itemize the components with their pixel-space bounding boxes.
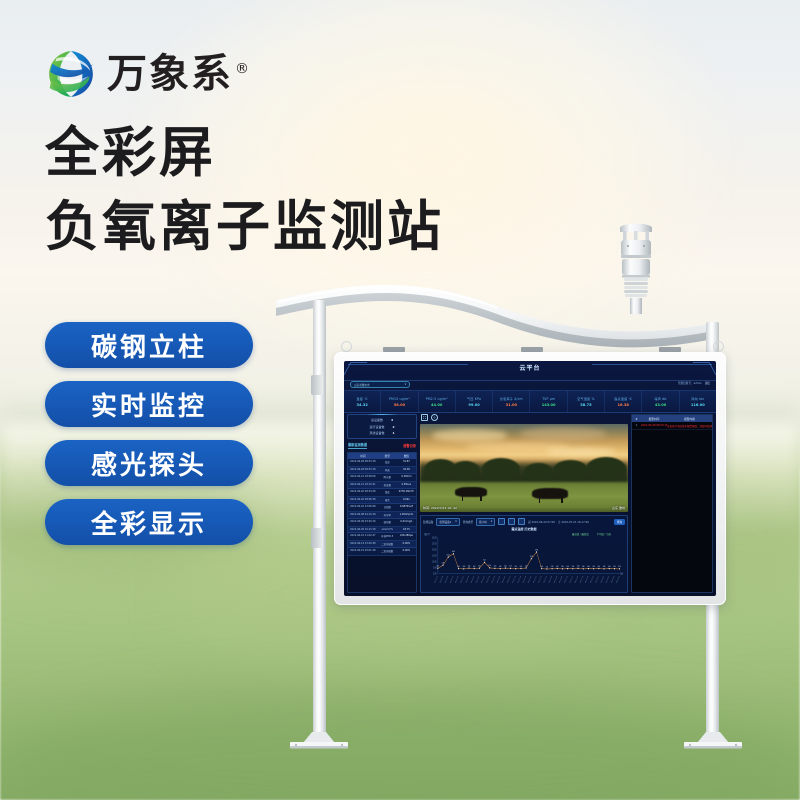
metric-item: 负氧离子 4/cm31.00 [493,391,530,412]
table-cell: 0.4mmg/L [397,519,416,526]
chevron-down-icon: ▾ [455,520,456,523]
metric-label: 露点温度 ℃ [614,396,632,401]
chart-plot-area: 最高值 / 最低值 平均值 / 当前 30.0025.0020.0015.001… [423,531,625,590]
table-cell: 2022-06-15 03:01:28 [348,548,378,555]
screenshot-canvas: 万象系® 全彩屏 负氧离子监测站 碳钢立柱 实时监控 感光探头 全彩显示 [0,0,800,800]
table-cell: 2022-06-01 11:02:47 [348,533,378,540]
chart-type-label: 查询类型 [463,520,473,524]
table-cell: 2022-06-09 03:20:16 [348,519,378,526]
camera-toolbar [420,414,628,421]
dashboard-body: 总设备数3运行设备数2离线设备数1 最新监测数据 报警记录 时间类型数值 202… [344,411,716,596]
x-tick-label: 06-20 21 [471,575,475,583]
table-cell: 2022-06-05 10:13:18 [348,527,378,533]
center-panel: 时间: 2022/7/21 16: 42 山东 潍坊 监测设备 监测设备1 ▾ … [420,414,628,593]
y-tick-label: 25.00 [432,543,437,545]
table-row[interactable]: 2022-06-15 03:01:28二氧化碳数0.00% [348,548,416,556]
tree [553,460,588,480]
table-cell: 0.38mm [397,474,416,481]
metric-item: TSP μm143.00 [530,391,567,412]
x-tick-label: 06-21 06 [491,575,495,583]
x-tick-label: 06-20 13 [450,575,454,583]
x-tick-label: 06-22 12 [569,575,573,583]
cow-leg [561,498,562,503]
table-cell: 2022-06-13 13:20:38 [348,541,378,548]
chart-point-label: 4.50 [525,565,527,567]
feature-badge-fullcolor[interactable]: 全彩显示 [45,499,253,545]
chart-point-label: 3.90 [592,565,594,567]
site-select-value: 山东省潍坊市 [354,383,370,387]
device-stat-label: 运行设备数 [369,425,384,429]
device-stat-row: 总设备数3 [352,418,412,422]
metric-label: TSP μm [542,397,555,401]
ultrasonic-weather-sensor-icon [612,222,660,314]
x-tick-label: 06-21 02 [481,575,485,583]
chart-legend: 最高值 / 最低值 平均值 / 当前 [572,532,611,536]
metric-label: 气压 KPa [467,396,481,401]
x-tick-label: 06-21 16 [517,575,521,583]
table-cell: 2022-06-28 08:53:18 [348,467,378,474]
table-cell: 日照数 [378,504,397,511]
records-table: 时间类型数值 2022-06-28 08:53:18温度31.872022-06… [347,452,417,594]
chart-point-label: 17.80 [535,549,538,551]
chart-point-label: 3.80 [618,566,620,568]
records-column-header: 数值 [397,453,416,460]
chart-point-label: 4.60 [489,565,491,567]
x-tick-label: 06-21 12 [507,575,511,583]
chart-point-label: 3.80 [582,566,584,568]
table-cell: 0.85Lux [397,482,416,489]
tree [451,461,480,479]
table-row[interactable]: 2022-06-21 18:10:31蒸发量0.85Lux [348,482,416,490]
chart-point-label: 4.20 [577,565,579,567]
chart-point-label: 4.30 [478,565,480,567]
alarm-col-time: 报警时间 [641,415,667,422]
table-cell: 18.75 [397,527,416,533]
metric-item: 空气湿度 %58.75 [568,391,605,412]
camera-location: 山东 潍坊 [612,506,625,510]
x-tick-label: 06-21 08 [497,575,501,583]
device-stats-box: 总设备数3运行设备数2离线设备数1 [347,414,417,439]
chart-device-label: 监测设备 [423,520,433,524]
feature-badge-steel-post[interactable]: 碳钢立柱 [45,322,253,368]
x-tick-label: 06-22 20 [590,575,594,583]
alarm-records-link[interactable]: 报警记录 [403,443,416,448]
table-cell: 噪音 [378,497,397,504]
cow-leg [462,496,463,501]
x-tick-label: 06-22 10 [564,575,568,583]
chart-device-value: 监测设备1 [439,520,451,524]
tree [482,458,519,480]
alarm-table-header: # 报警时间 报警内容 [632,415,712,422]
user-area: 管理员账号：admin 退出 [678,381,710,385]
chart-point-label: 4.00 [457,565,459,567]
metric-label: 空气湿度 % [577,396,595,401]
table-row[interactable]: 2022-06-28 08:53:18温度31.87 [348,459,416,467]
display-enclosure: 云平台 山东省潍坊市 ▾ 管理员账号：admin 退出 温度 ℃34.32PM1… [334,352,726,605]
chart-point-label: 4.00 [587,565,589,567]
table-cell: 2022-06-20 08:34:28 [348,489,378,496]
chart-controls: 监测设备 监测设备1 ▾ 查询类型 按小时 ▾ [423,518,625,526]
chart-point-label: 3.90 [572,565,574,567]
frame-hook-left [341,341,352,352]
metric-value: 43.00 [655,403,666,407]
chart-point-label: 4.20 [494,565,496,567]
chart-point-label: 4.00 [608,565,610,567]
x-tick-label: 06-21 18 [523,575,527,583]
table-cell: 2022-06-20 08:56:38 [348,497,378,504]
chart-point-label: 4.40 [504,565,506,567]
table-row[interactable]: 2022-06-28 08:53:18风速32.38 [348,467,416,475]
chart-point-label: 12.20 [530,555,533,557]
metric-value: 58.00 [394,403,405,407]
chart-device-select[interactable]: 监测设备1 ▾ [436,518,459,526]
frame-bracket [311,528,323,548]
carbon-steel-post-left [313,300,326,740]
records-column-header: 类型 [378,453,397,460]
table-cell: 0.00% [397,548,416,555]
chart-point-label: 9.20 [483,559,485,561]
chart-query-button[interactable]: 查询 [614,519,625,525]
metric-label: PM10 ug/m³ [389,397,410,401]
metrics-bar: 温度 ℃34.32PM10 ug/m³58.00PM2.5 ug/m³44.00… [344,390,716,413]
metric-item: PM10 ug/m³58.00 [381,391,418,412]
x-tick-label: 06-22 08 [559,575,563,583]
x-tick-label: 06-21 04 [486,575,490,583]
table-cell: 风速 [378,467,397,474]
frame-hook-right [713,341,724,352]
table-cell: 0.0879Uv/f [397,504,416,511]
dashboard-title: 云平台 [344,363,716,372]
x-tick-label: 06-23 00 [600,575,604,583]
table-cell: 2022-06-21 18:10:31 [348,482,378,489]
y-tick-label: 15.00 [432,555,437,557]
y-tick-label: 10.00 [432,561,437,563]
chart-point-label: 4.10 [520,565,522,567]
x-tick-label: 06-22 04 [549,575,553,583]
chart-point-label: 4.40 [468,565,470,567]
table-cell: 106.28Kpa [397,533,416,540]
x-tick-label: 06-23 06 [616,575,620,583]
metric-value: 116.00 [691,403,705,407]
x-tick-label: 06-20 17 [460,575,464,583]
alarm-cell: 负氧离子浓度低于报警阈值，请及时处理 [667,422,712,429]
cow-leg [539,498,540,503]
table-cell: 2022-06-08 04:10:18 [348,512,378,519]
table-cell: 降水量 [378,474,397,481]
metric-value: 58.75 [580,403,591,407]
table-cell: solarUV% [378,527,397,533]
table-cell: 蒸发量 [378,482,397,489]
camera-live-view[interactable]: 时间: 2022/7/21 16: 42 山东 潍坊 [420,424,628,512]
x-tick-label: 06-20 19 [465,575,469,583]
x-tick-label: 06-20 07 [434,575,438,583]
table-cell: 温度 [378,459,397,466]
table-cell: 湿度 [378,489,397,496]
chart-date-from[interactable]: 起 2022-06-20 07:00 [528,520,555,524]
x-tick-label: 06-21 22 [533,575,537,583]
table-row[interactable]: 2022-06-20 08:56:38噪音0.0Kn [348,497,416,505]
chart-point-label: 3.70 [546,566,548,568]
feature-badge-list: 碳钢立柱 实时监控 感光探头 全彩显示 [45,322,253,545]
table-cell: 环境PM2.5 [378,533,397,540]
device-stat-value: 3 [391,418,393,422]
metric-item: 露点温度 ℃16.38 [605,391,642,412]
dashboard-screen: 云平台 山东省潍坊市 ▾ 管理员账号：admin 退出 温度 ℃34.32PM1… [344,361,716,596]
metric-item: PM2.5 ug/m³44.00 [419,391,456,412]
table-cell: 2022-06-01 13:08:28 [348,504,378,511]
metric-item: 噪声 db43.00 [642,391,679,412]
anchor-base-plate-right [682,732,744,749]
records-title: 最新监测数据 [348,442,367,449]
history-chart-panel: 监测设备 监测设备1 ▾ 查询类型 按小时 ▾ [420,515,628,593]
table-cell: 0730.18m7h [397,489,416,496]
table-row[interactable]: 2022-06-20 08:34:28湿度0730.18m7h [348,489,416,497]
device-stat-row: 运行设备数2 [352,425,412,429]
table-cell: 0.0Kn [397,497,416,504]
chart-point-label: 4.20 [509,565,511,567]
chart-point-label: 4.20 [437,565,439,567]
user-account-label: 管理员账号：admin [678,381,702,385]
alarm-col-content: 报警内容 [667,415,712,422]
x-tick-label: 06-22 06 [554,575,558,583]
chart-point-label: 4.10 [598,565,600,567]
metric-label: 风向 ion [691,396,704,401]
table-cell: 32.38 [397,467,416,474]
alarm-row[interactable]: 12022-06-28 08:53:18负氧离子浓度低于报警阈值，请及时处理 [632,422,712,430]
x-tick-label: 06-22 16 [580,575,584,583]
table-row[interactable]: 2022-06-01 11:02:47环境PM2.5106.28Kpa [348,533,416,541]
table-cell: 31.87 [397,459,416,466]
chart-point-label: 4.10 [556,565,558,567]
cloud [520,427,607,441]
feature-badge-realtime[interactable]: 实时监控 [45,381,253,427]
cloud [432,429,507,441]
chart-point-label: 4.00 [566,565,568,567]
alarm-cell: 1 [632,422,641,429]
chart-point-label: 3.80 [561,566,563,568]
chart-point-label: 13.60 [447,554,450,556]
alarm-cell: 2022-06-28 08:53:18 [641,422,667,429]
x-tick-label: 06-21 20 [528,575,532,583]
chevron-down-icon: ▾ [405,383,406,386]
x-tick-label: 06-20 09 [439,575,443,583]
dashboard-header: 云平台 [344,361,716,381]
table-row[interactable]: 2022-06-01 13:08:28日照数0.0879Uv/f [348,504,416,512]
table-row[interactable]: 2022-06-21 18:48:08降水量0.38mm [348,474,416,482]
table-row[interactable]: 2022-06-13 13:20:38二氧化碳数0.00% [348,541,416,549]
brand-name: 万象系® [107,54,251,94]
legend-entry: 最高值 / 最低值 [572,532,589,536]
left-panel: 总设备数3运行设备数2离线设备数1 最新监测数据 报警记录 时间类型数值 202… [347,414,417,593]
tree [586,457,626,480]
chart-type-value: 按小时 [479,520,487,524]
chart-point-label: 3.90 [551,565,553,567]
records-header: 最新监测数据 报警记录 [347,442,417,449]
metric-label: 负氧离子 4/cm [500,396,523,401]
x-tick-label: 06-22 14 [575,575,579,583]
table-row[interactable]: 2022-06-09 03:20:16辐射量0.4mmg/L [348,519,416,527]
export-icon[interactable] [518,518,525,525]
metric-value: 34.32 [356,403,367,407]
metric-value: 16.38 [618,403,629,407]
metric-label: 温度 ℃ [356,396,367,401]
chart-point-label: 16.40 [452,550,455,552]
x-tick-label: 06-21 14 [512,575,516,583]
right-panel: # 报警时间 报警内容 12022-06-28 08:53:18负氧离子浓度低于… [631,414,713,593]
alarm-col-index: # [632,415,641,422]
metric-value: 143.00 [542,403,556,407]
y-tick-label: 0.00 [433,573,437,575]
x-tick-label: 06-21 00 [476,575,480,583]
chart-point-label: 3.90 [613,565,615,567]
table-cell: 0.00% [397,541,416,548]
x-tick-label: 06-23 02 [606,575,610,583]
x-tick-label: 06-22 18 [585,575,589,583]
records-column-header: 时间 [348,453,378,460]
table-cell: 二氧化碳数 [378,548,397,555]
device-stat-label: 总设备数 [371,418,383,422]
device-stat-row: 离线设备数1 [352,431,412,435]
y-tick-label: 20.00 [432,549,437,551]
table-cell: 2022-06-21 18:48:08 [348,474,378,481]
x-tick-label: 06-20 15 [455,575,459,583]
headline-secondary: 负氧离子监测站 [45,200,444,254]
chart-point-label: 3.80 [603,566,605,568]
chart-point-label: 6.80 [442,562,444,564]
records-table-body: 2022-06-28 08:53:18温度31.872022-06-28 08:… [348,459,416,556]
registered-mark-icon: ® [235,61,251,77]
tree [524,463,553,481]
x-tick-label: 06-23 04 [611,575,615,583]
chart-point-label: 4.10 [473,565,475,567]
device-stat-value: 1 [392,431,394,435]
chart-point-label: 4.00 [499,565,501,567]
device-stat-value: 2 [392,425,394,429]
y-tick-label: 30.00 [432,537,437,539]
x-tick-label: 06-22 02 [543,575,547,583]
table-cell: 电导率 [378,512,397,519]
headline-primary: 全彩屏 [45,126,216,180]
frame-bracket [311,375,323,395]
chart-point-label: 3.80 [463,566,465,568]
camera-timestamp: 时间: 2022/7/21 16: 42 [423,506,457,510]
anchor-base-plate-left [288,732,350,749]
list-view-icon[interactable] [498,518,505,525]
snapshot-icon[interactable] [431,414,438,421]
table-row[interactable]: 2022-06-08 04:10:18电导率1.05mS/cm [348,512,416,520]
cow-leg [480,496,481,501]
alarm-table-body: 12022-06-28 08:53:18负氧离子浓度低于报警阈值，请及时处理 [632,422,712,430]
chart-point-label: 4.00 [541,565,543,567]
y-axis-label: 露点(℃) [424,531,430,536]
chart-type-select[interactable]: 按小时 ▾ [476,518,495,526]
table-cell: 2022-06-28 08:53:18 [348,459,378,466]
chart-date-to[interactable]: 止 2022-07-21 16:17:00 [558,520,589,524]
brand-logo: 万象系® [45,48,251,100]
metric-label: 噪声 db [654,396,666,401]
metric-value: 99.00 [468,403,479,407]
table-cell: 1.05mS/cm [397,512,416,519]
chevron-down-icon: ▾ [491,520,492,523]
records-table-header: 时间类型数值 [348,453,416,460]
metric-value: 31.00 [506,403,517,407]
site-select-dropdown[interactable]: 山东省潍坊市 ▾ [350,381,410,388]
x-tick-label: 06-22 22 [595,575,599,583]
globe-swoosh-logo-icon [45,48,97,100]
x-tick-label: 06-21 10 [502,575,506,583]
table-cell: 辐射量 [378,519,397,526]
feature-badge-light-probe[interactable]: 感光探头 [45,440,253,486]
chart-point-label: 3.90 [515,565,517,567]
fullscreen-icon[interactable] [421,414,428,421]
device-stat-label: 离线设备数 [369,431,384,435]
alarm-panel: # 报警时间 报警内容 12022-06-28 08:53:18负氧离子浓度低于… [631,414,713,593]
metric-item: 风向 ion116.00 [680,391,716,412]
cow [455,487,486,497]
x-tick-label: 06-22 00 [538,575,542,583]
metric-item: 气压 KPa99.00 [456,391,493,412]
x-axis-label: 时间 [620,571,623,576]
metric-label: PM2.5 ug/m³ [426,397,448,401]
bar-view-icon[interactable] [508,518,515,525]
table-cell: 二氧化碳数 [378,541,397,548]
logout-button[interactable]: 退出 [705,381,710,385]
legend-entry: 平均值 / 当前 [597,532,611,536]
metric-item: 温度 ℃34.32 [344,391,381,412]
metric-value: 44.00 [431,403,442,407]
x-tick-label: 06-20 11 [445,575,449,583]
cloud [545,447,616,456]
